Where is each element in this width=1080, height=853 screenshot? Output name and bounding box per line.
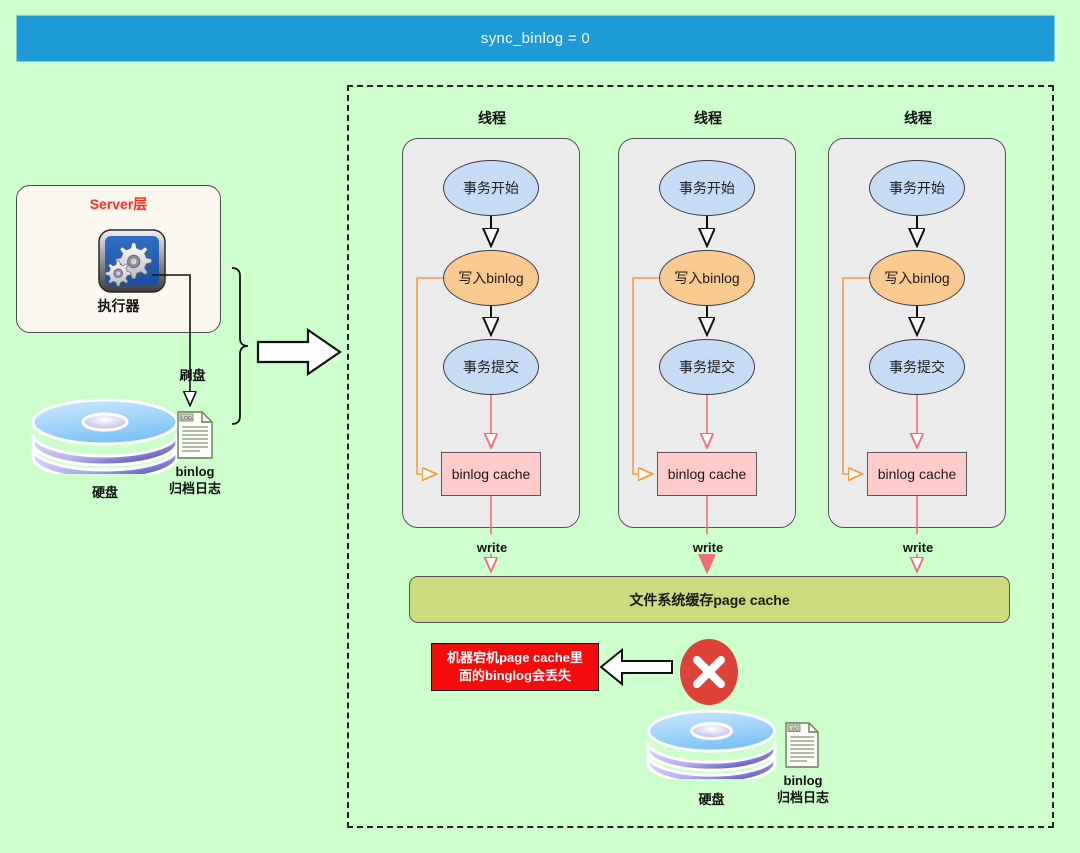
page-cache-label: 文件系统缓存page cache (629, 590, 789, 610)
block-right-arrow-icon (258, 330, 340, 374)
log-label-bottom-line1: binlog (748, 772, 858, 789)
crash-warning-line1: 机器宕机page cache里 (447, 649, 583, 667)
server-layer-panel: Server层 (16, 185, 221, 333)
node-transaction-commit-2: 事务提交 (659, 339, 755, 395)
error-cross-circle-icon (679, 638, 739, 706)
log-label-left-line1: binlog (140, 463, 250, 480)
log-file-icon-bottom: LOG (784, 721, 820, 769)
server-layer-title: Server层 (17, 194, 220, 214)
banner-title: sync_binlog = 0 (481, 30, 590, 47)
disk-stack-icon-bottom (645, 707, 778, 779)
node-write-binlog-3: 写入binlog (869, 250, 965, 306)
log-label-left-line2: 归档日志 (140, 480, 250, 497)
node-binlog-cache-1: binlog cache (441, 452, 541, 496)
crash-warning-line2: 面的binglog会丢失 (447, 667, 583, 685)
write-label-2: write (668, 540, 748, 555)
thread-title-1: 线程 (402, 108, 582, 128)
gear-settings-icon (95, 228, 169, 294)
node-write-binlog-1: 写入binlog (443, 250, 539, 306)
svg-text:LOG: LOG (181, 416, 192, 422)
sync-binlog-banner: sync_binlog = 0 (16, 15, 1055, 62)
log-label-bottom-line2: 归档日志 (748, 789, 858, 806)
curly-brace-icon (232, 268, 248, 424)
log-file-icon: LOG (176, 410, 214, 460)
log-label-left: binlog 归档日志 (140, 463, 250, 497)
thread-title-2: 线程 (618, 108, 798, 128)
thread-title-3: 线程 (828, 108, 1008, 128)
node-transaction-commit-1: 事务提交 (443, 339, 539, 395)
node-transaction-start-1: 事务开始 (443, 160, 539, 216)
node-binlog-cache-2: binlog cache (657, 452, 757, 496)
log-label-bottom: binlog 归档日志 (748, 772, 858, 806)
node-write-binlog-2: 写入binlog (659, 250, 755, 306)
diagram-canvas: sync_binlog = 0 Server层 (0, 0, 1080, 853)
node-transaction-start-3: 事务开始 (869, 160, 965, 216)
page-cache-bar: 文件系统缓存page cache (409, 576, 1010, 623)
flush-arrow-label: 刷盘 (155, 365, 230, 384)
node-transaction-start-2: 事务开始 (659, 160, 755, 216)
write-label-1: write (452, 540, 532, 555)
crash-warning-box: 机器宕机page cache里 面的binglog会丢失 (431, 643, 599, 691)
node-transaction-commit-3: 事务提交 (869, 339, 965, 395)
executor-label: 执行器 (17, 296, 220, 316)
node-binlog-cache-3: binlog cache (867, 452, 967, 496)
write-label-3: write (878, 540, 958, 555)
svg-text:LOG: LOG (789, 726, 799, 731)
